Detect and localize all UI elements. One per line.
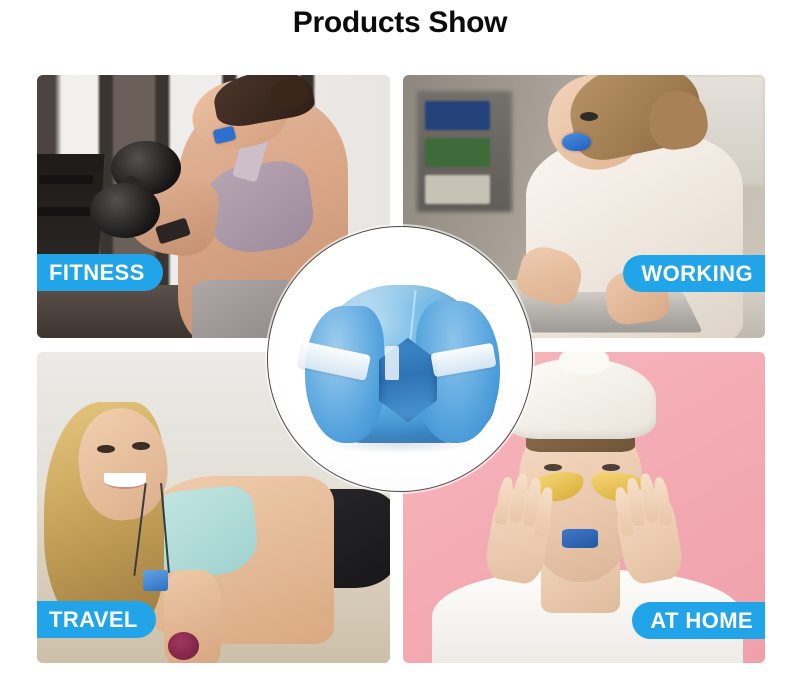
- dumbbell-plate-bottom: [90, 183, 161, 238]
- product-shadow: [321, 433, 479, 454]
- towel-knot: [559, 352, 610, 374]
- product-showcase-page: Products Show: [0, 0, 800, 699]
- traveler-smile: [104, 473, 146, 489]
- badge-travel: TRAVEL: [37, 601, 156, 638]
- product-in-mouth-working-icon: [562, 133, 591, 151]
- badge-fitness: FITNESS: [37, 254, 163, 291]
- product-in-mouth-at-home-icon: [562, 529, 598, 548]
- athlete-hair-bun: [270, 80, 309, 106]
- product-hole-highlight: [385, 346, 398, 380]
- jawline-exerciser-product: [268, 227, 532, 491]
- product-on-necklace-icon: [143, 570, 168, 592]
- page-title: Products Show: [0, 6, 800, 40]
- office-book: [425, 101, 490, 130]
- dumbbell: [90, 141, 185, 246]
- office-book: [425, 138, 490, 167]
- traveler-watch: [168, 632, 200, 660]
- office-book: [425, 175, 490, 204]
- product-hero-circle[interactable]: [267, 226, 533, 492]
- badge-working: WORKING: [623, 255, 765, 292]
- badge-at-home: AT HOME: [632, 602, 765, 639]
